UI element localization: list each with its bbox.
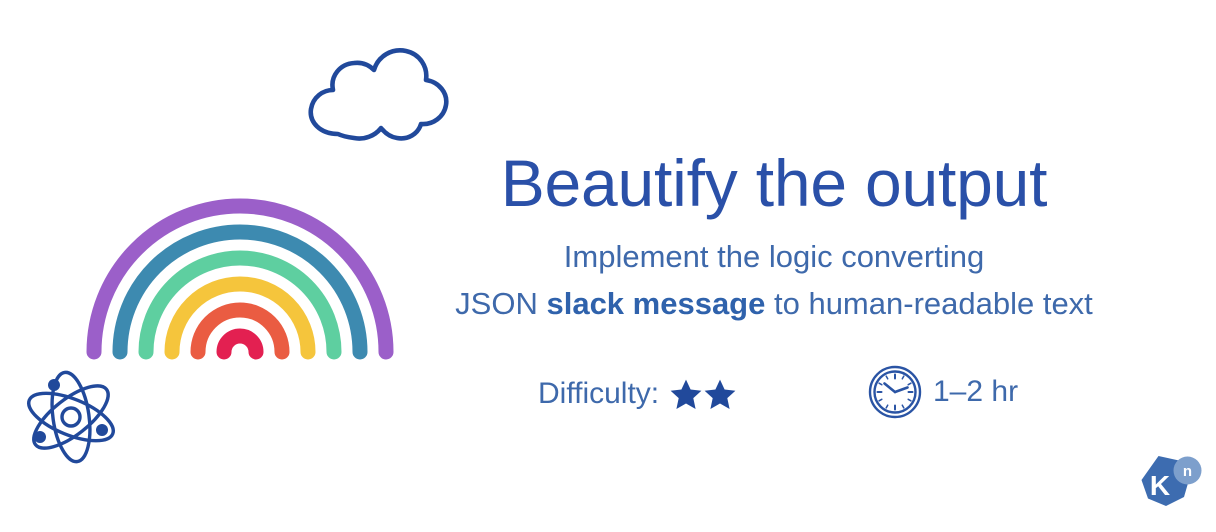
rainbow-icon bbox=[78, 182, 403, 364]
star-icon bbox=[669, 378, 703, 411]
challenge-card: Beautify the output Implement the logic … bbox=[0, 0, 1216, 532]
page-title: Beautify the output bbox=[418, 150, 1130, 216]
duration-value: 1–2 hr bbox=[933, 375, 1018, 409]
difficulty-rating bbox=[669, 378, 737, 411]
cloud-icon bbox=[300, 38, 455, 143]
description-suffix: to human-readable text bbox=[765, 286, 1092, 321]
star-icon bbox=[703, 378, 737, 411]
atom-icon bbox=[18, 366, 124, 468]
meta-row: Difficulty: bbox=[418, 368, 1130, 428]
description-block: Implement the logic converting JSON slac… bbox=[418, 234, 1130, 327]
difficulty-label: Difficulty: bbox=[538, 377, 659, 411]
logo-primary-letter: K bbox=[1150, 470, 1170, 501]
duration-group: 1–2 hr bbox=[868, 368, 1018, 416]
brand-logo: K n bbox=[1134, 452, 1206, 520]
description-line-2: JSON slack message to human-readable tex… bbox=[418, 281, 1130, 328]
description-highlight: slack message bbox=[546, 286, 765, 321]
description-prefix: JSON bbox=[455, 286, 546, 321]
logo-badge-letter: n bbox=[1183, 463, 1192, 480]
clock-icon bbox=[868, 365, 922, 419]
text-block: Beautify the output Implement the logic … bbox=[418, 150, 1130, 327]
difficulty-group: Difficulty: bbox=[538, 370, 737, 418]
description-line-1: Implement the logic converting bbox=[418, 234, 1130, 281]
